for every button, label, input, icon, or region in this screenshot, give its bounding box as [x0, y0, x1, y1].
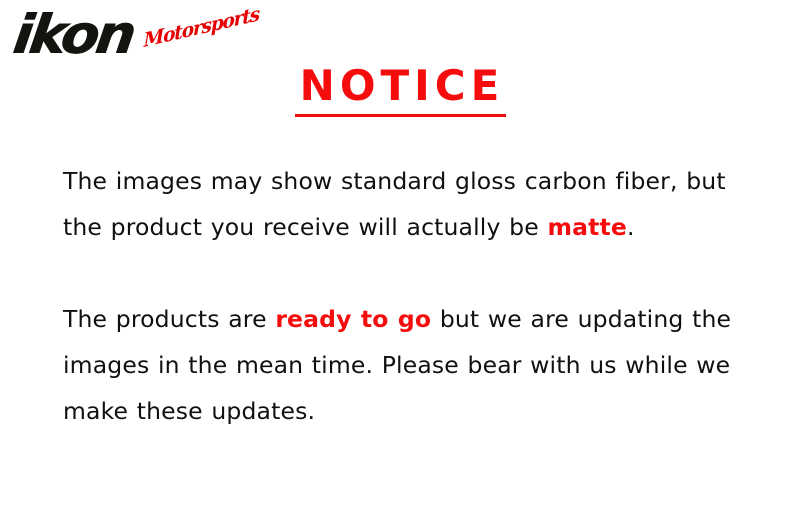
- title-underline-rule: [295, 114, 506, 117]
- notice-banner: ikon Motorsports NOTICE The images may s…: [0, 0, 800, 510]
- page-title: NOTICE: [292, 64, 509, 108]
- notice-body: The images may show standard gloss carbo…: [63, 158, 763, 434]
- body-text: .: [627, 213, 635, 241]
- notice-paragraph: The products are ready to go but we are …: [63, 296, 763, 434]
- brand-tagline: Motorsports: [144, 5, 259, 51]
- highlighted-text: matte: [547, 213, 627, 241]
- body-text: The products are: [63, 305, 275, 333]
- brand-logo: ikon Motorsports: [8, 6, 258, 72]
- brand-wordmark: ikon: [10, 8, 136, 62]
- highlighted-text: ready to go: [275, 305, 431, 333]
- notice-heading-block: NOTICE: [0, 64, 800, 117]
- notice-paragraph: The images may show standard gloss carbo…: [63, 158, 763, 250]
